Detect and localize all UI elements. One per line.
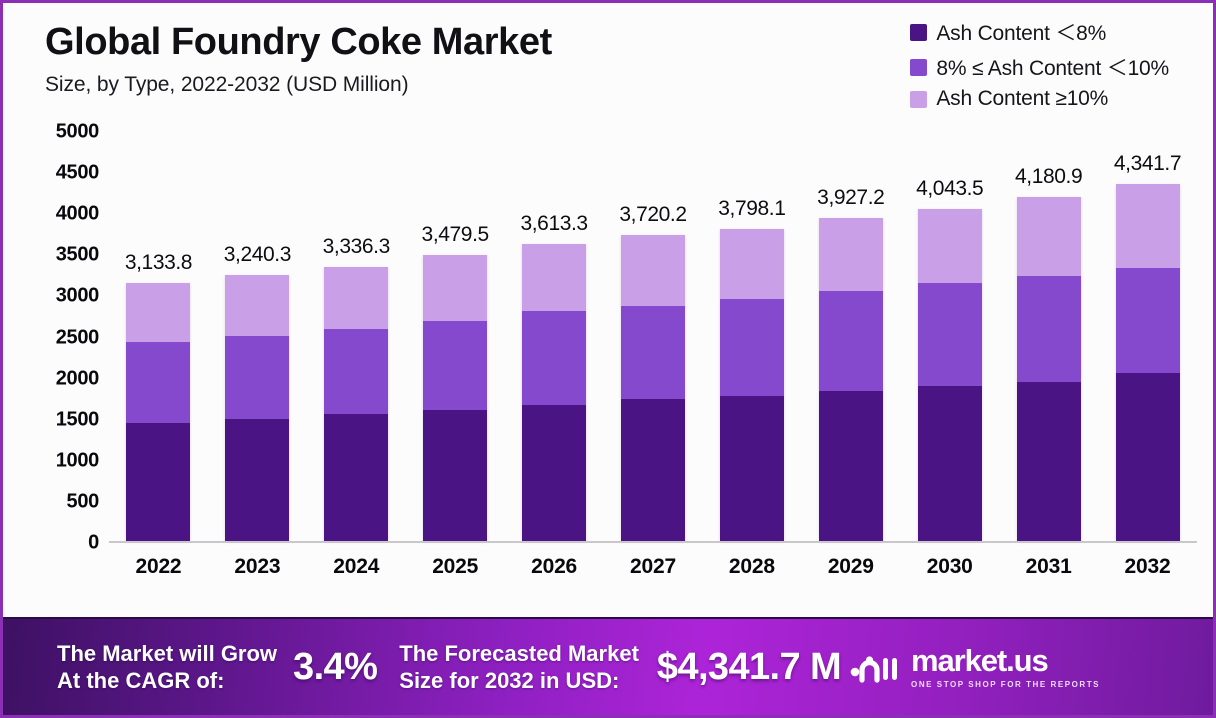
- bar-group[interactable]: 4,341.7: [1098, 123, 1197, 541]
- bar-segment[interactable]: [324, 267, 388, 329]
- bar-stack[interactable]: [819, 218, 883, 541]
- y-axis-tick: 500: [67, 490, 99, 513]
- bar-segment[interactable]: [522, 311, 586, 405]
- bar-segment[interactable]: [1017, 276, 1081, 382]
- bar-group[interactable]: 3,927.2: [801, 123, 900, 541]
- bar-stack[interactable]: [126, 283, 190, 541]
- market-us-logo-mark-icon: [845, 646, 903, 688]
- bar-segment[interactable]: [918, 283, 982, 386]
- bar-segment[interactable]: [819, 391, 883, 541]
- x-axis: 2022202320242025202620272028202920302031…: [109, 555, 1197, 579]
- bar-stack[interactable]: [225, 275, 289, 541]
- x-axis-label: 2024: [307, 555, 406, 579]
- cagr-caption-line2: At the CAGR of:: [57, 667, 277, 694]
- bar-total-label: 3,798.1: [718, 197, 785, 221]
- bar-segment[interactable]: [819, 218, 883, 291]
- market-us-logo-text: market.us ONE STOP SHOP FOR THE REPORTS: [911, 645, 1100, 689]
- axis-baseline: [109, 541, 1197, 543]
- y-axis-tick: 1500: [56, 408, 99, 431]
- x-axis-label: 2025: [406, 555, 505, 579]
- bar-total-label: 4,341.7: [1114, 152, 1181, 176]
- bar-segment[interactable]: [918, 386, 982, 541]
- x-axis-label: 2030: [900, 555, 999, 579]
- x-axis-label: 2028: [702, 555, 801, 579]
- forecast-caption-line1: The Forecasted Market: [399, 640, 639, 667]
- legend-swatch-icon: [910, 59, 927, 76]
- bar-stack[interactable]: [1017, 197, 1081, 541]
- bar-total-label: 4,043.5: [916, 177, 983, 201]
- legend-item-ash-gte-10[interactable]: Ash Content ≥10%: [910, 87, 1108, 111]
- y-axis-tick: 4500: [56, 162, 99, 185]
- infographic-root: Global Foundry Coke Market Size, by Type…: [0, 0, 1216, 718]
- y-axis-tick: 2000: [56, 367, 99, 390]
- bar-segment[interactable]: [324, 414, 388, 541]
- y-axis-tick: 1000: [56, 449, 99, 472]
- plot-area: 3,133.83,240.33,336.33,479.53,613.33,720…: [109, 123, 1197, 543]
- bar-stack[interactable]: [918, 209, 982, 541]
- bar-total-label: 3,927.2: [817, 186, 884, 210]
- cagr-caption: The Market will Grow At the CAGR of:: [57, 640, 277, 695]
- bar-total-label: 3,240.3: [224, 243, 291, 267]
- forecast-caption: The Forecasted Market Size for 2032 in U…: [399, 640, 639, 695]
- cagr-caption-line1: The Market will Grow: [57, 640, 277, 667]
- bar-segment[interactable]: [621, 306, 685, 400]
- legend-label: 8% ≤ Ash Content ＜10%: [936, 52, 1169, 82]
- bar-segment[interactable]: [1116, 373, 1180, 541]
- bar-segment[interactable]: [522, 244, 586, 311]
- bar-group[interactable]: 3,240.3: [208, 123, 307, 541]
- bar-total-label: 4,180.9: [1015, 165, 1082, 189]
- y-axis-tick: 3000: [56, 285, 99, 308]
- bar-segment[interactable]: [1116, 184, 1180, 268]
- legend-item-ash-8-to-10[interactable]: 8% ≤ Ash Content ＜10%: [910, 52, 1169, 82]
- logo-tagline: ONE STOP SHOP FOR THE REPORTS: [911, 680, 1100, 689]
- bar-total-label: 3,479.5: [422, 223, 489, 247]
- x-axis-label: 2029: [801, 555, 900, 579]
- bar-group[interactable]: 3,133.8: [109, 123, 208, 541]
- forecast-value: $4,341.7 M: [657, 646, 841, 689]
- logo-wordmark: market.us: [911, 645, 1100, 676]
- page-subtitle: Size, by Type, 2022-2032 (USD Million): [45, 73, 552, 97]
- bar-total-label: 3,133.8: [125, 251, 192, 275]
- market-us-logo[interactable]: market.us ONE STOP SHOP FOR THE REPORTS: [845, 645, 1100, 689]
- bar-group[interactable]: 3,798.1: [702, 123, 801, 541]
- page-title: Global Foundry Coke Market: [45, 23, 552, 63]
- x-axis-label: 2031: [999, 555, 1098, 579]
- bar-segment[interactable]: [918, 209, 982, 284]
- bar-segment[interactable]: [423, 255, 487, 321]
- bar-segment[interactable]: [423, 410, 487, 542]
- bar-group[interactable]: 4,180.9: [999, 123, 1098, 541]
- bar-segment[interactable]: [1017, 382, 1081, 541]
- bar-stack[interactable]: [423, 255, 487, 541]
- x-axis-label: 2027: [604, 555, 703, 579]
- legend-swatch-icon: [910, 24, 927, 41]
- bar-segment[interactable]: [522, 405, 586, 541]
- bar-segment[interactable]: [1116, 268, 1180, 373]
- bar-series-container: 3,133.83,240.33,336.33,479.53,613.33,720…: [109, 123, 1197, 541]
- y-axis-tick: 4000: [56, 203, 99, 226]
- bar-segment[interactable]: [1017, 197, 1081, 276]
- bar-stack[interactable]: [720, 229, 784, 541]
- bar-group[interactable]: 3,336.3: [307, 123, 406, 541]
- chart-legend: Ash Content ＜8% 8% ≤ Ash Content ＜10% As…: [910, 17, 1169, 111]
- stacked-bar-chart: 0500100015002000250030003500400045005000…: [21, 123, 1201, 613]
- bar-segment[interactable]: [819, 291, 883, 391]
- bar-group[interactable]: 3,479.5: [406, 123, 505, 541]
- y-axis: 0500100015002000250030003500400045005000: [21, 132, 99, 543]
- bar-segment[interactable]: [720, 299, 784, 396]
- bar-group[interactable]: 3,720.2: [604, 123, 703, 541]
- bar-segment[interactable]: [720, 396, 784, 541]
- legend-label: Ash Content ≥10%: [936, 87, 1108, 111]
- y-axis-tick: 5000: [56, 121, 99, 144]
- x-axis-label: 2032: [1098, 555, 1197, 579]
- header: Global Foundry Coke Market Size, by Type…: [45, 23, 552, 97]
- x-axis-label: 2022: [109, 555, 208, 579]
- bar-total-label: 3,613.3: [520, 212, 587, 236]
- bar-stack[interactable]: [1116, 184, 1180, 541]
- bar-segment[interactable]: [126, 423, 190, 541]
- bar-segment[interactable]: [225, 336, 289, 419]
- bar-stack[interactable]: [324, 267, 388, 541]
- x-axis-label: 2023: [208, 555, 307, 579]
- bar-total-label: 3,336.3: [323, 235, 390, 259]
- bar-stack[interactable]: [621, 235, 685, 541]
- bar-stack[interactable]: [522, 244, 586, 541]
- bar-segment[interactable]: [324, 329, 388, 414]
- legend-swatch-icon: [910, 91, 927, 108]
- bar-group[interactable]: 3,613.3: [505, 123, 604, 541]
- y-axis-tick: 2500: [56, 326, 99, 349]
- bar-segment[interactable]: [225, 275, 289, 336]
- x-axis-label: 2026: [505, 555, 604, 579]
- forecast-caption-line2: Size for 2032 in USD:: [399, 667, 639, 694]
- bar-segment[interactable]: [126, 342, 190, 423]
- summary-banner: The Market will Grow At the CAGR of: 3.4…: [3, 617, 1213, 715]
- bar-segment[interactable]: [621, 399, 685, 541]
- bar-segment[interactable]: [423, 321, 487, 410]
- bar-segment[interactable]: [126, 283, 190, 342]
- bar-segment[interactable]: [621, 235, 685, 305]
- bar-segment[interactable]: [720, 229, 784, 300]
- legend-label: Ash Content ＜8%: [936, 17, 1106, 47]
- y-axis-tick: 0: [88, 532, 99, 555]
- bar-total-label: 3,720.2: [619, 203, 686, 227]
- y-axis-tick: 3500: [56, 244, 99, 267]
- bar-group[interactable]: 4,043.5: [900, 123, 999, 541]
- bar-segment[interactable]: [225, 419, 289, 541]
- cagr-value: 3.4%: [293, 646, 377, 689]
- legend-item-ash-lt-8[interactable]: Ash Content ＜8%: [910, 17, 1106, 47]
